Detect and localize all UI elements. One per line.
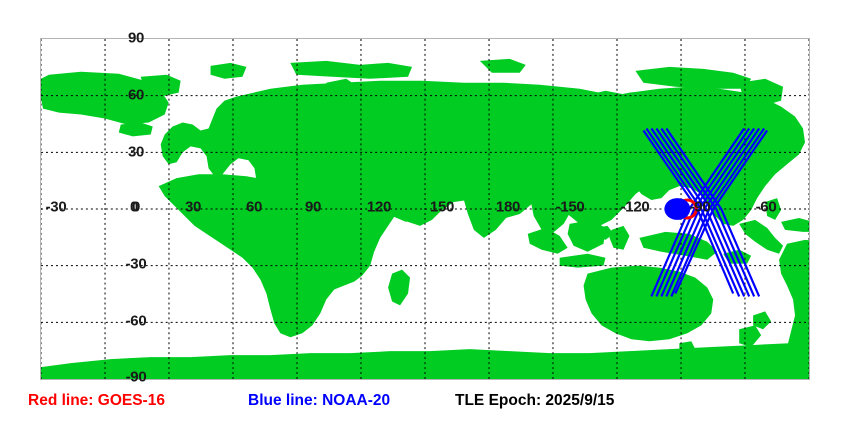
legend-entry-goes16: Red line: GOES-16 <box>28 392 165 410</box>
caribbean-islands-shape <box>781 218 809 232</box>
legend-entry-noaa20: Blue line: NOAA-20 <box>248 392 390 410</box>
sumatra-shape <box>528 228 568 254</box>
central-america-shape <box>739 220 783 254</box>
madagascar-shape <box>388 270 410 306</box>
svalbard-shape <box>211 63 247 79</box>
florida-shape <box>765 198 781 220</box>
noaa20-marker <box>664 198 690 220</box>
world-map-panel <box>40 38 810 380</box>
australia-shape <box>584 266 714 342</box>
borneo-shape <box>568 220 606 252</box>
legend-entry-tle-epoch: TLE Epoch: 2025/9/15 <box>455 392 614 410</box>
sulawesi-shape <box>610 226 630 250</box>
new-siberian-islands-shape <box>480 59 526 73</box>
iceland-shape <box>119 123 153 137</box>
satellite-ground-track-figure: -30 0 30 60 90 120 150 180 -150 -120 -90… <box>0 0 850 425</box>
world-map-svg <box>41 39 809 379</box>
legend: Red line: GOES-16 Blue line: NOAA-20 TLE… <box>0 392 850 420</box>
arctic-islands-shape <box>290 61 412 79</box>
africa-shape <box>159 174 400 337</box>
new-zealand-south-shape <box>739 325 761 347</box>
canadian-arctic-shape <box>635 67 751 89</box>
indochina-shape <box>530 192 572 234</box>
